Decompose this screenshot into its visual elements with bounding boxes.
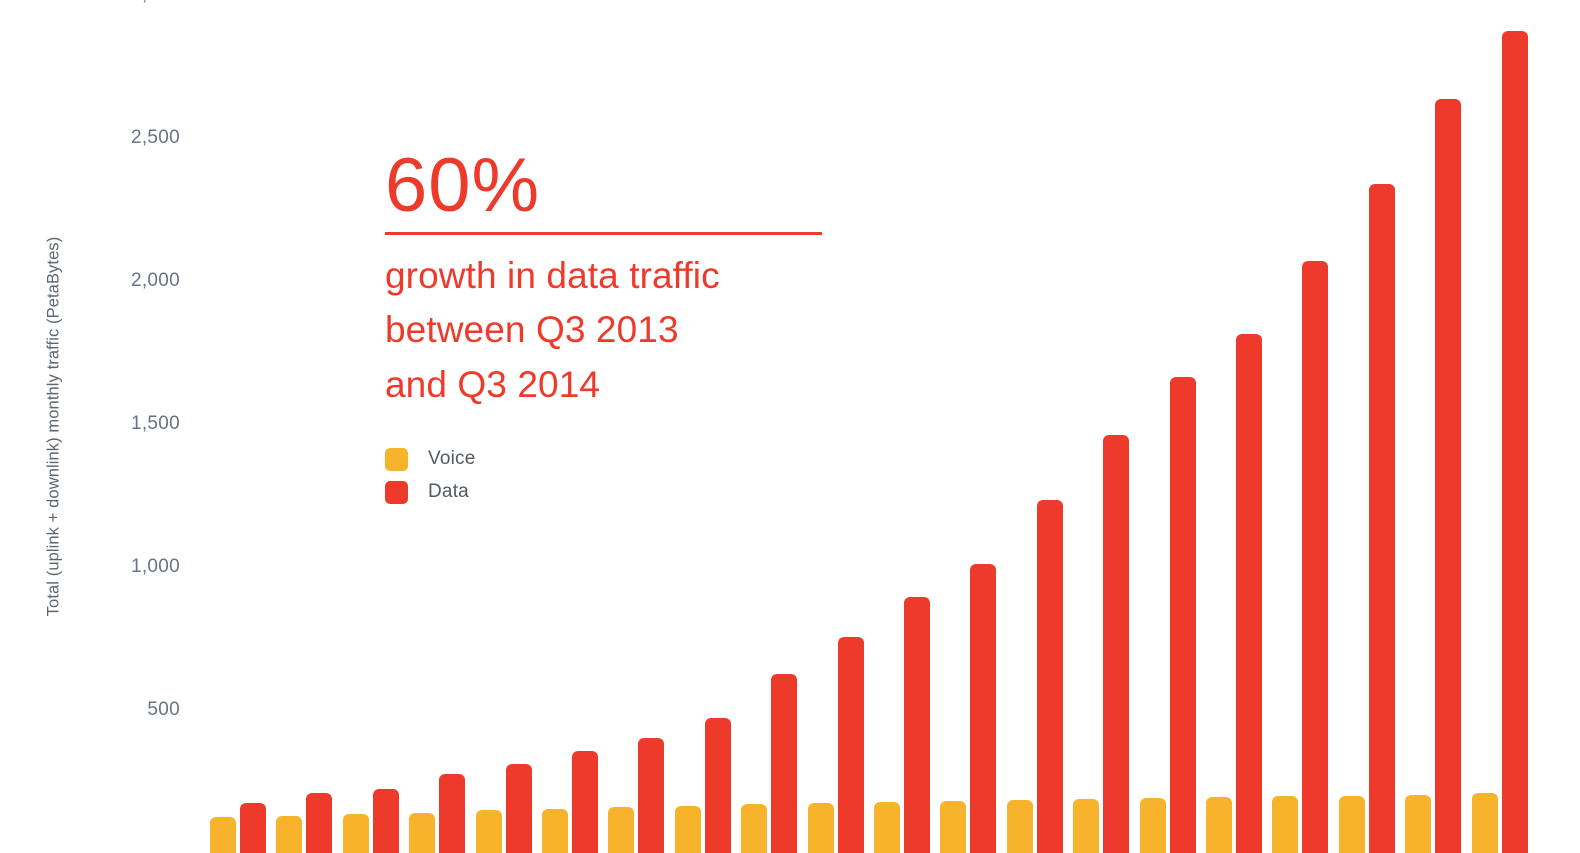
bar-data-5: [572, 751, 598, 853]
bar-voice-6: [608, 807, 634, 853]
bar-voice-8: [741, 804, 767, 853]
bar-voice-18: [1405, 795, 1431, 853]
bar-voice-10: [874, 802, 900, 853]
bar-data-8: [771, 674, 797, 853]
bar-voice-1: [276, 816, 302, 853]
bar-voice-11: [940, 801, 966, 853]
bar-voice-5: [542, 809, 568, 853]
callout-divider: [385, 232, 822, 235]
bar-voice-2: [343, 814, 369, 853]
bar-voice-14: [1140, 798, 1166, 853]
bar-data-3: [439, 774, 465, 853]
legend-item-voice[interactable]: Voice: [385, 443, 475, 475]
bar-data-1: [306, 793, 332, 853]
bar-voice-15: [1206, 797, 1232, 853]
bar-voice-3: [409, 813, 435, 853]
bar-data-10: [904, 597, 930, 853]
bar-voice-17: [1339, 796, 1365, 853]
bar-data-19: [1502, 31, 1528, 853]
bar-data-0: [240, 803, 266, 853]
callout-line-1: growth in data traffic: [385, 249, 825, 303]
legend-label: Voice: [428, 448, 475, 470]
bar-data-13: [1103, 435, 1129, 853]
chart-canvas: Total (uplink + downlink) monthly traffi…: [0, 0, 1580, 850]
legend-swatch-icon-voice: [385, 448, 408, 471]
bar-data-9: [838, 637, 864, 853]
bar-data-14: [1170, 377, 1196, 853]
callout-line-3: and Q3 2014: [385, 358, 825, 412]
legend-label: Data: [428, 481, 469, 503]
bar-voice-4: [476, 810, 502, 853]
bar-data-15: [1236, 334, 1262, 853]
legend: VoiceData: [385, 443, 475, 509]
bar-voice-16: [1272, 796, 1298, 853]
bar-data-2: [373, 789, 399, 853]
legend-swatch-icon-data: [385, 481, 408, 504]
callout-figure: 60%: [385, 150, 825, 222]
bar-data-11: [970, 564, 996, 853]
bar-data-4: [506, 764, 532, 853]
bar-data-17: [1369, 184, 1395, 853]
bar-voice-0: [210, 817, 236, 853]
bar-data-7: [705, 718, 731, 853]
bar-voice-7: [675, 806, 701, 853]
legend-item-data[interactable]: Data: [385, 476, 475, 508]
bar-data-6: [638, 738, 664, 853]
bar-voice-19: [1472, 793, 1498, 853]
callout-text: growth in data traffic between Q3 2013 a…: [385, 249, 825, 412]
bar-voice-13: [1073, 799, 1099, 853]
bar-data-18: [1435, 99, 1461, 853]
bar-data-12: [1037, 500, 1063, 853]
callout-line-2: between Q3 2013: [385, 303, 825, 357]
bar-data-16: [1302, 261, 1328, 853]
bar-voice-9: [808, 803, 834, 853]
bar-plot-area: [0, 0, 1580, 850]
bar-voice-12: [1007, 800, 1033, 853]
callout-block: 60% growth in data traffic between Q3 20…: [385, 150, 825, 412]
